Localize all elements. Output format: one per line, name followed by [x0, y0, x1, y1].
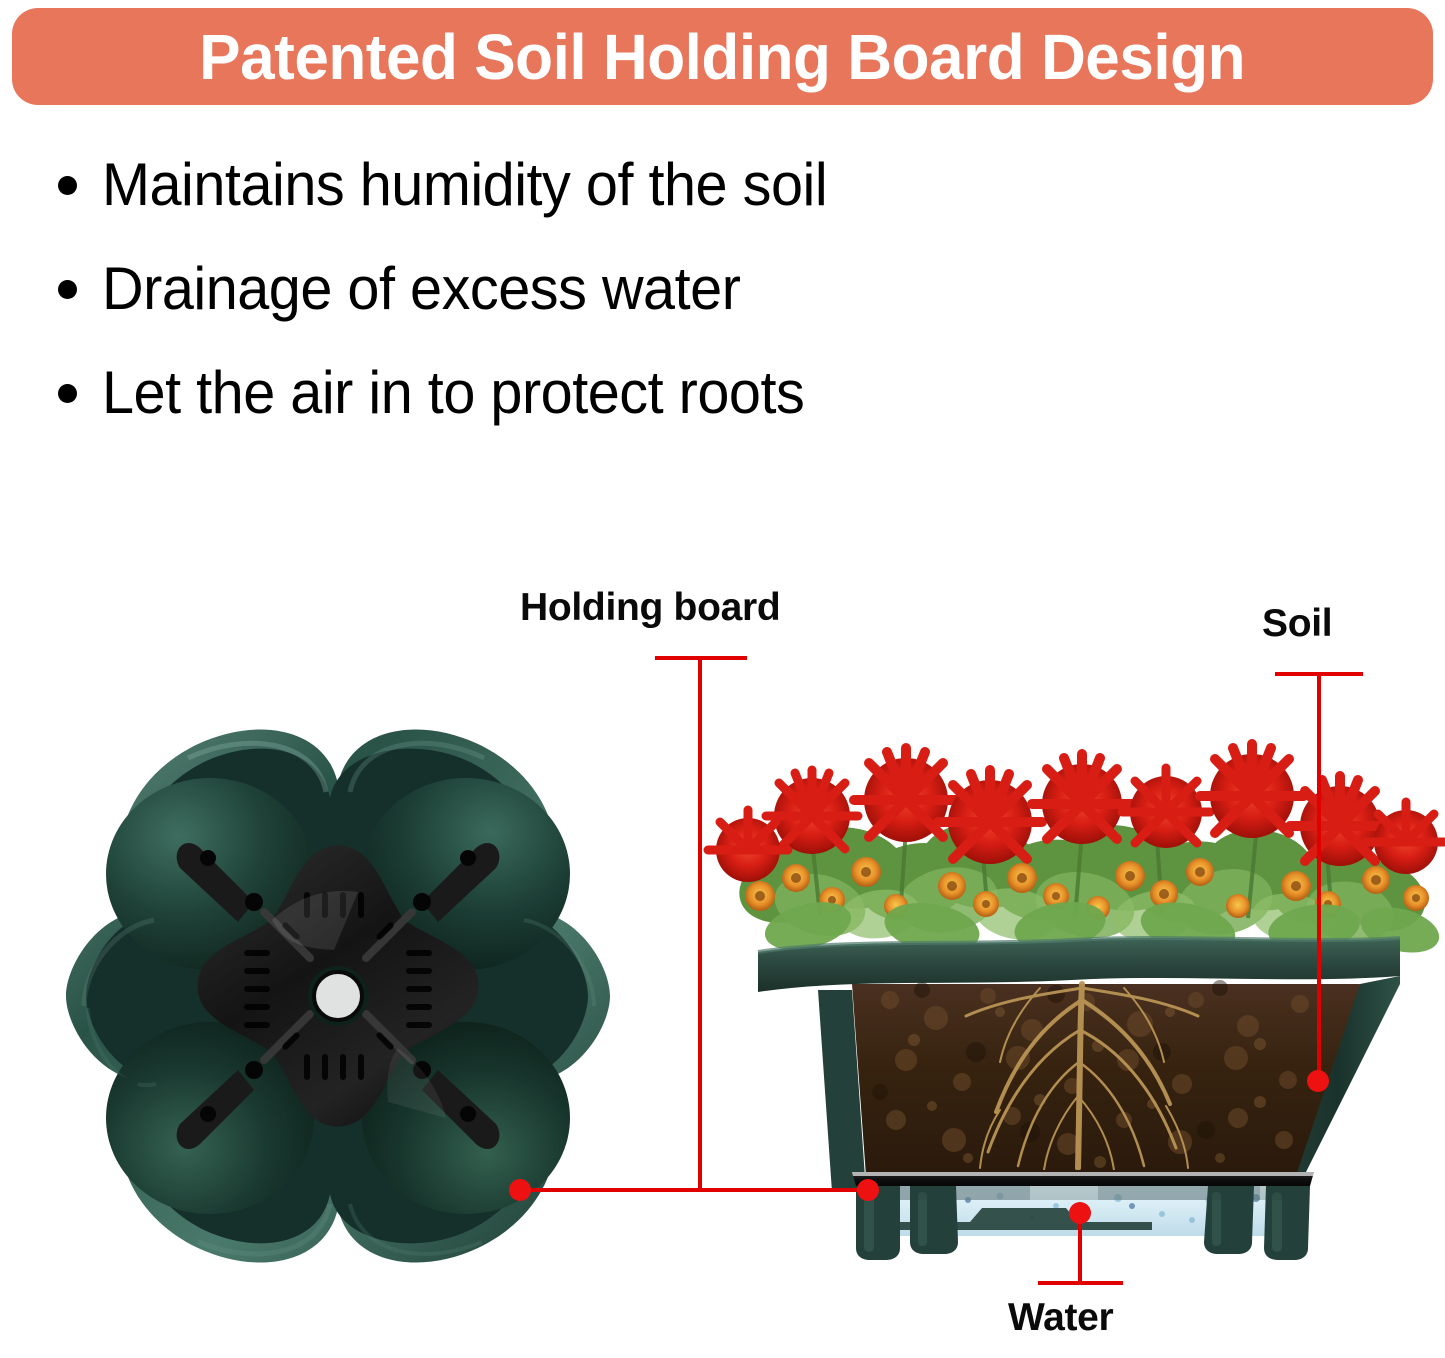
leader-vertical-soil [1317, 672, 1321, 1082]
feature-text: Let the air in to protect roots [102, 358, 804, 427]
clover-planter-illustration [58, 706, 618, 1286]
list-item: Let the air in to protect roots [58, 358, 1158, 462]
feature-text: Maintains humidity of the soil [102, 150, 827, 219]
callout-label-soil: Soil [1262, 602, 1332, 646]
callout-label-holding-board: Holding board [520, 586, 780, 630]
list-item: Maintains humidity of the soil [58, 150, 1158, 254]
leader-dot-water [1069, 1202, 1091, 1224]
list-item: Drainage of excess water [58, 254, 1158, 358]
leader-dot-holding-board-left [509, 1179, 531, 1201]
page-title: Patented Soil Holding Board Design [200, 25, 1246, 89]
product-image-planter-cross-section [700, 700, 1445, 1270]
leader-dot-holding-board-right [857, 1179, 879, 1201]
leader-horizontal-holding-board [520, 1188, 870, 1192]
callout-label-water: Water [1008, 1296, 1113, 1340]
bullet-icon [58, 176, 77, 195]
bullet-icon [58, 384, 77, 403]
feature-list: Maintains humidity of the soil Drainage … [58, 150, 1158, 462]
feature-text: Drainage of excess water [102, 254, 740, 323]
leader-dot-soil [1307, 1070, 1329, 1092]
bullet-icon [58, 280, 77, 299]
planter-cross-section-illustration [700, 700, 1445, 1270]
product-image-holding-board [58, 706, 618, 1286]
soil-holding-board-insert [177, 843, 500, 1149]
leader-vertical-holding-board [698, 656, 702, 1190]
pot-rim [758, 938, 1400, 992]
leader-tbar-water [1038, 1281, 1123, 1285]
header-banner: Patented Soil Holding Board Design [12, 8, 1433, 105]
